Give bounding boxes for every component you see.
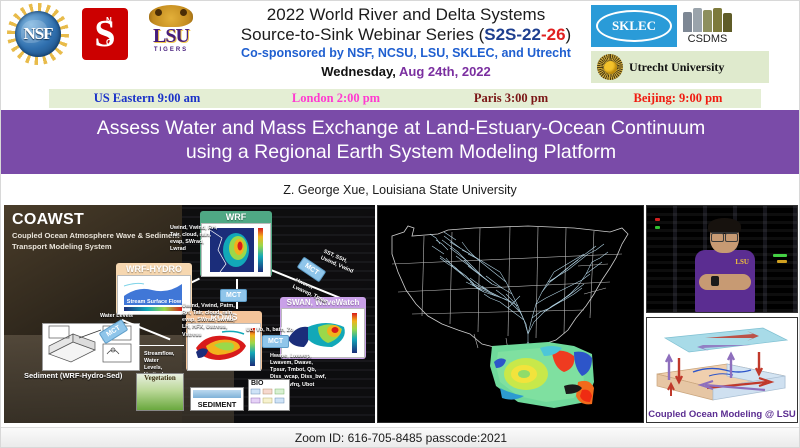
ncsu-c-letter: C bbox=[106, 38, 112, 47]
figure-row: COAWST Coupled Ocean Atmosphere Wave & S… bbox=[1, 205, 800, 427]
lsu-logo-subtext: TIGERS bbox=[141, 47, 201, 53]
ncsu-s-letter: S bbox=[79, 6, 131, 62]
nsf-logo-text: NSF bbox=[7, 3, 69, 65]
coawst-diagram-panel: COAWST Coupled Ocean Atmosphere Wave & S… bbox=[4, 205, 375, 423]
vegetation-thumbnail: Vegetation bbox=[136, 373, 184, 411]
coupled-ocean-svg bbox=[647, 318, 797, 410]
flux-label-bathy: Ub, Vb, h, bath, Zo bbox=[246, 327, 296, 334]
timezone-paris: Paris 3:00 pm bbox=[427, 91, 595, 106]
utrecht-logo-icon: Utrecht University bbox=[591, 51, 769, 83]
speaker-glasses-icon bbox=[711, 232, 738, 240]
series-code-b: 26 bbox=[547, 25, 566, 44]
rack-led-3 bbox=[773, 254, 787, 257]
csdms-logo-icon: CSDMS bbox=[683, 8, 732, 45]
cosponsor-line: Co-sponsored by NSF, NCSU, LSU, SKLEC, a… bbox=[216, 46, 596, 60]
us-river-network-map bbox=[377, 205, 644, 423]
rack-led-4 bbox=[777, 260, 787, 263]
lsu-logo-text: LSU bbox=[141, 25, 201, 48]
sklec-logo-text: SKLEC bbox=[596, 10, 672, 42]
speaker-figure: LSU bbox=[693, 220, 757, 313]
timezone-london: London 2:00 pm bbox=[245, 91, 427, 106]
sediment-label: SEDIMENT bbox=[198, 400, 237, 410]
shirt-lsu-logo: LSU bbox=[735, 258, 749, 266]
timezone-us-eastern: US Eastern 9:00 am bbox=[49, 91, 245, 106]
flux-label-wrf-top: Uwind, Vwind, RH, Tair, cloud, rain, eva… bbox=[170, 225, 218, 254]
rack-led-2 bbox=[655, 226, 660, 229]
event-date-rest: Aug 24th, 2022 bbox=[396, 64, 491, 79]
talk-title-banner: Assess Water and Mass Exchange at Land-E… bbox=[1, 110, 800, 174]
model-box-wrf-hydro: WRF-HYDRO Stream Surface Flow bbox=[116, 263, 192, 315]
right-figure-column: LSU bbox=[646, 205, 798, 423]
series-title-line2: Source-to-Sink Webinar Series (S2S-22-26… bbox=[216, 25, 596, 45]
coawst-title: COAWST bbox=[12, 211, 84, 229]
lsu-tiger-icon bbox=[149, 5, 193, 27]
coupled-ocean-modeling-diagram: Coupled Ocean Modeling @ LSU bbox=[646, 317, 798, 423]
us-map-svg bbox=[378, 206, 644, 422]
bio-label: BIO bbox=[249, 380, 289, 387]
utrecht-label: Utrecht University bbox=[629, 60, 724, 75]
sklec-logo-icon: SKLEC bbox=[591, 5, 677, 47]
poster-header: NSF S N C LSU TIGERS 2022 World River an… bbox=[1, 1, 799, 89]
wrf-hydro-plot-svg bbox=[118, 276, 191, 314]
csdms-label: CSDMS bbox=[688, 33, 728, 45]
speaker-watch bbox=[711, 276, 719, 286]
bio-thumbnail: BIO bbox=[248, 379, 290, 411]
speaker-photo: LSU bbox=[646, 205, 798, 313]
gulf-model-output bbox=[490, 342, 594, 408]
ncsu-logo-icon: S N C bbox=[79, 6, 131, 62]
coupled-ocean-caption: Coupled Ocean Modeling @ LSU bbox=[647, 409, 797, 420]
timezone-beijing: Beijing: 9:00 pm bbox=[595, 91, 761, 106]
wrf-hydro-plot-caption: Stream Surface Flow bbox=[118, 299, 190, 305]
lsu-logo-icon: LSU TIGERS bbox=[141, 5, 201, 63]
sediment-wrf-hydro-sed-label: Sediment (WRF-Hydro-Sed) bbox=[24, 371, 122, 380]
speaker-affiliation: Z. George Xue, Louisiana State Universit… bbox=[1, 174, 799, 205]
talk-title-line1: Assess Water and Mass Exchange at Land-E… bbox=[11, 117, 791, 141]
speaker-arms bbox=[699, 274, 751, 290]
coupler-mct-4: MCT bbox=[262, 335, 289, 348]
vegetation-label: Vegetation bbox=[137, 374, 183, 382]
series-title-line2-pre: Source-to-Sink Webinar Series ( bbox=[241, 25, 484, 44]
csdms-bars-icon bbox=[683, 8, 732, 32]
zoom-info-footer: Zoom ID: 616-705-8485 passcode:2021 bbox=[1, 427, 800, 448]
flux-label-water-levels: Water Levels bbox=[100, 313, 140, 320]
wrf-hydro-plot-thumbnail: Stream Surface Flow bbox=[117, 275, 191, 315]
series-code-a: S2S-22 bbox=[484, 25, 541, 44]
header-titles: 2022 World River and Delta Systems Sourc… bbox=[216, 5, 596, 79]
ncsu-n-letter: N bbox=[106, 16, 112, 25]
series-title-line1: 2022 World River and Delta Systems bbox=[216, 5, 596, 25]
nsf-logo-icon: NSF bbox=[7, 3, 69, 65]
bio-diagram-icon bbox=[249, 387, 287, 407]
sklec-csdms-row: SKLEC CSDMS bbox=[591, 5, 791, 47]
arrow-sed-to-roms bbox=[138, 345, 184, 347]
event-date: Wednesday, Aug 24th, 2022 bbox=[216, 64, 596, 79]
sponsor-logos-left: NSF S N C LSU TIGERS bbox=[7, 3, 201, 65]
event-date-day: Wednesday, bbox=[321, 64, 396, 79]
talk-title-line2: using a Regional Earth System Modeling P… bbox=[11, 141, 791, 165]
webinar-announcement-poster: NSF S N C LSU TIGERS 2022 World River an… bbox=[0, 0, 800, 448]
series-title-line2-post: ) bbox=[566, 25, 572, 44]
coupler-mct-2: MCT bbox=[220, 289, 247, 302]
timezone-bar: US Eastern 9:00 am London 2:00 pm Paris … bbox=[49, 89, 761, 108]
coawst-subtitle: Coupled Ocean Atmosphere Wave & Sediment… bbox=[12, 230, 187, 252]
flux-label-wrf-roms: Uwind, Vwind, Patm, RH, Tair, cloud, rai… bbox=[182, 303, 236, 339]
sediment-thumbnail: SEDIMENT bbox=[190, 387, 244, 411]
model-label-wrf: WRF bbox=[200, 211, 272, 222]
model-label-wrf-hydro: WRF-HYDRO bbox=[116, 263, 192, 274]
utrecht-sun-icon bbox=[597, 54, 623, 80]
rack-led-1 bbox=[655, 218, 660, 221]
sponsor-logos-right: SKLEC CSDMS Utrecht University bbox=[591, 5, 791, 83]
